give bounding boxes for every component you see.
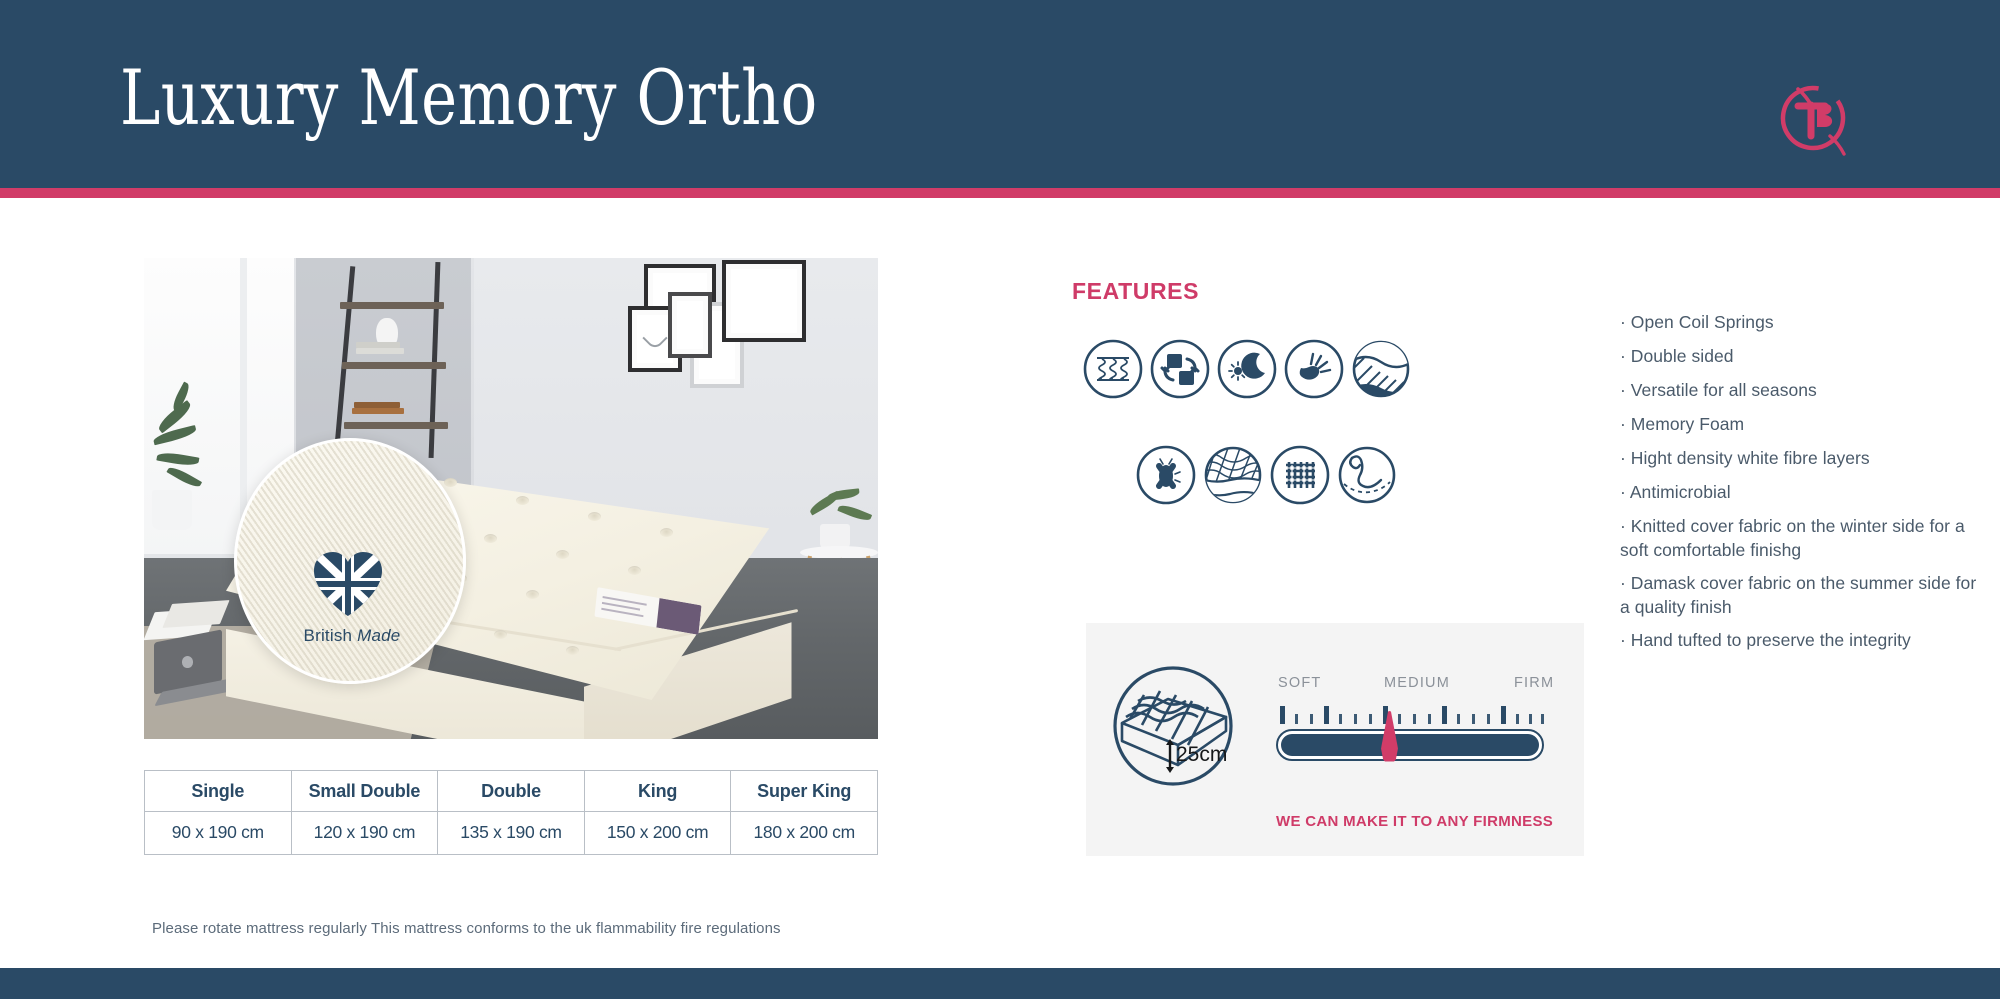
label-firm: FIRM (1514, 675, 1554, 691)
firmness-cta: WE CAN MAKE IT TO ANY FIRMNESS (1276, 813, 1553, 830)
british-made-badge: British Made (292, 550, 412, 668)
table-cell: 135 x 190 cm (438, 812, 585, 855)
framed-art (722, 260, 806, 342)
depth-label: 25cm (1176, 743, 1227, 766)
british-made-label: British Made (292, 626, 412, 646)
table-cell: 150 x 200 cm (584, 812, 731, 855)
features-heading: FEATURES (1072, 278, 1199, 305)
product-spec-sheet: Luxury Memory Ortho (0, 0, 2000, 999)
product-photo: British Made (144, 258, 878, 739)
framed-art (668, 292, 712, 358)
antimicrobial-bug-icon (1135, 444, 1197, 506)
hand-tufted-icon (1336, 444, 1398, 506)
table-header-cell: King (584, 771, 731, 812)
list-item: · Open Coil Springs (1620, 310, 1980, 334)
firmness-scale: SOFT MEDIUM FIRM (1276, 675, 1558, 761)
table-cell: 180 x 200 cm (731, 812, 878, 855)
fibre-layers-icon (1350, 338, 1412, 400)
care-footnote: Please rotate mattress regularly This ma… (152, 920, 781, 937)
firmness-scale-labels: SOFT MEDIUM FIRM (1276, 675, 1558, 697)
table-cell: 90 x 190 cm (145, 812, 292, 855)
list-item: · Hand tufted to preserve the integrity (1620, 628, 1980, 652)
table-header-cell: Double (438, 771, 585, 812)
mattress-depth-icon: 25cm (1108, 661, 1238, 791)
double-sided-rotate-icon (1149, 338, 1211, 400)
open-coil-springs-icon (1082, 338, 1144, 400)
footer-bar (0, 968, 2000, 999)
list-item: · Memory Foam (1620, 412, 1980, 436)
header-accent-stripe (0, 188, 2000, 198)
quilted-layers-icon (1202, 444, 1264, 506)
list-item: · Damask cover fabric on the summer side… (1620, 571, 1980, 619)
list-item: · Antimicrobial (1620, 480, 1980, 504)
plant-pot (152, 490, 192, 530)
damask-weave-icon (1269, 444, 1331, 506)
list-item: · Versatile for all seasons (1620, 378, 1980, 402)
firmness-bar[interactable] (1276, 729, 1544, 761)
firmness-panel: 25cm SOFT MEDIUM FIRM (1086, 623, 1584, 856)
memory-foam-hand-icon (1283, 338, 1345, 400)
page-title: Luxury Memory Ortho (120, 52, 818, 144)
table-cell: 120 x 190 cm (291, 812, 438, 855)
all-seasons-sun-moon-icon (1216, 338, 1278, 400)
size-table: Single Small Double Double King Super Ki… (144, 770, 878, 855)
list-item: · Double sided (1620, 344, 1980, 368)
feature-bullet-list: · Open Coil Springs · Double sided · Ver… (1620, 310, 1980, 661)
label-medium: MEDIUM (1384, 675, 1450, 691)
table-header-cell: Small Double (291, 771, 438, 812)
table-header-cell: Super King (731, 771, 878, 812)
tb-monogram-logo (1768, 72, 1858, 162)
list-item: · Hight density white fibre layers (1620, 446, 1980, 470)
firmness-ticks (1276, 704, 1558, 724)
union-jack-heart-icon (312, 550, 384, 618)
label-soft: SOFT (1278, 675, 1321, 691)
table-header-cell: Single (145, 771, 292, 812)
table-header-row: Single Small Double Double King Super Ki… (145, 771, 878, 812)
table-row: 90 x 190 cm 120 x 190 cm 135 x 190 cm 15… (145, 812, 878, 855)
list-item: · Knitted cover fabric on the winter sid… (1620, 514, 1980, 562)
